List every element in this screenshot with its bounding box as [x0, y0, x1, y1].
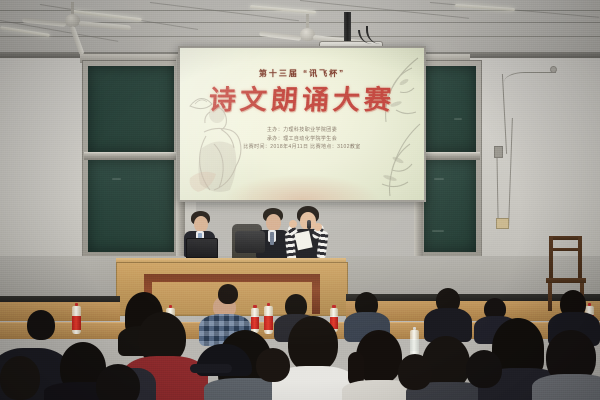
slide-title: 诗文朗诵大赛	[180, 78, 424, 117]
slide-meta-line-3: 比赛时间：2018年4月11日 比赛地点：3102教室	[180, 143, 424, 152]
water-bottle	[264, 306, 273, 334]
slide-meta: 主办：力理科技职业学院团委 承办：理工自动化学院学生会 比赛时间：2018年4月…	[180, 126, 424, 152]
slide-meta-line-2: 承办：理工自动化学院学生会	[180, 135, 424, 144]
monitor	[235, 231, 265, 253]
water-bottle	[251, 308, 259, 333]
desk-row-back-left	[0, 300, 120, 321]
chalkboard-panel-right-upper	[424, 66, 476, 152]
chalkboard-panel-left-lower	[88, 160, 174, 252]
projection-screen: 第十三届 “讯飞杯” 诗文朗诵大赛 主办：力理科技职业学院团委 承办：理工自动化…	[178, 46, 426, 202]
presentation-slide: 第十三届 “讯飞杯” 诗文朗诵大赛 主办：力理科技职业学院团委 承办：理工自动化…	[180, 48, 424, 200]
slide-meta-line-1: 主办：力理科技职业学院团委	[180, 126, 424, 135]
microphone	[307, 220, 311, 229]
water-bottle	[72, 306, 81, 334]
chalkboard-panel-left-upper	[88, 66, 174, 152]
lecture-hall-photo: 第十三届 “讯飞杯” 诗文朗诵大赛 主办：力理科技职业学院团委 承办：理工自动化…	[0, 0, 600, 400]
water-bottle	[410, 330, 419, 356]
script-papers	[294, 231, 312, 251]
laptop	[186, 238, 218, 258]
chalkboard-panel-right-lower	[424, 160, 476, 252]
